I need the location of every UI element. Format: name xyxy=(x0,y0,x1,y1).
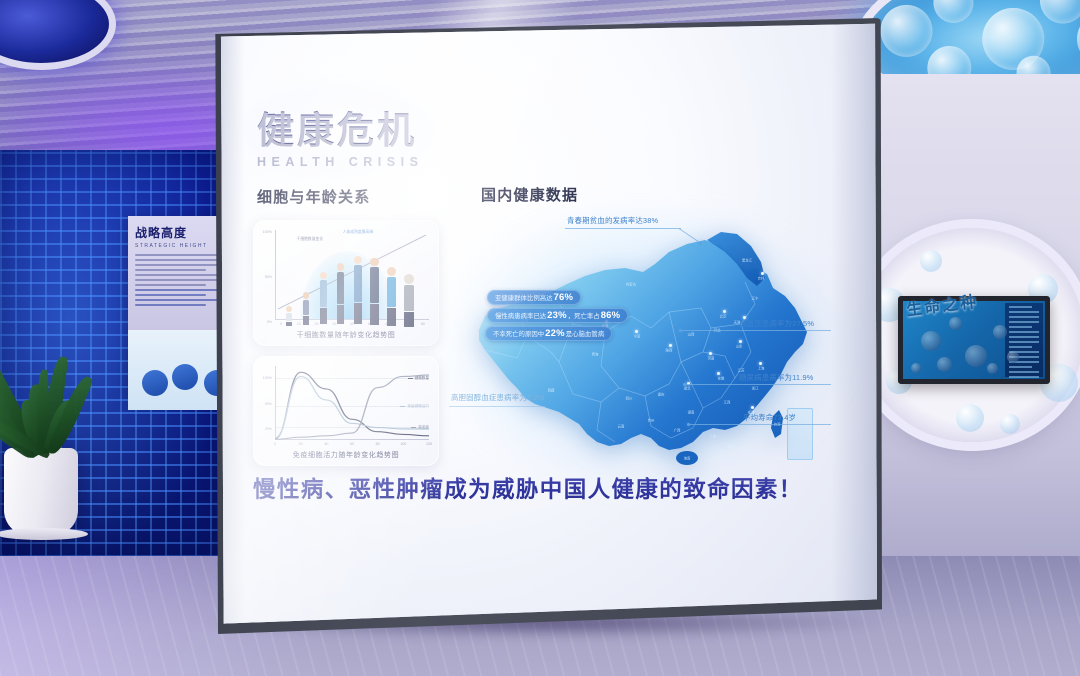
bubble-decor xyxy=(956,404,984,432)
figure-body xyxy=(354,265,362,302)
map-pin xyxy=(751,406,754,409)
cell-graphic xyxy=(1007,351,1019,363)
province-label: 江西 xyxy=(724,400,731,405)
x-tick-label: 0 xyxy=(274,442,276,446)
poster-badge xyxy=(172,364,198,390)
x-tick-label: 0 xyxy=(280,322,282,326)
china-map-block: 黑龙江吉林辽宁内蒙古北京天津河北山西山东河南陕西甘肃宁夏青海新疆西藏四川重庆湖北… xyxy=(455,212,851,482)
chart-card-immunity: 100%50%20% 020406080100120 细胞数量免疫细胞活力衰老度… xyxy=(253,356,439,466)
x-tick-label: 100 xyxy=(400,442,406,446)
callout-lifespan: 平均寿命73.4岁 xyxy=(743,412,796,423)
figure-head xyxy=(337,263,345,271)
legend-label: 免疫细胞活力 xyxy=(407,404,429,409)
leader-dot-anemia xyxy=(699,242,702,245)
y-tick-label: 50% xyxy=(265,402,272,406)
figure-body xyxy=(320,280,327,307)
province-label: 西藏 xyxy=(548,388,555,393)
province-label: 香港 xyxy=(728,444,735,449)
map-pin-dot xyxy=(709,352,712,355)
pill-value2: 86% xyxy=(601,310,621,321)
province-label: 山东 xyxy=(736,344,743,349)
bubble-decor xyxy=(1000,414,1020,434)
figure-legs xyxy=(303,316,310,325)
province-label: 吉林 xyxy=(758,276,765,281)
plant-pot xyxy=(4,448,78,536)
leader-line-lifespan xyxy=(689,424,831,425)
bubble-decor xyxy=(920,250,942,272)
leader-dot-diabetes xyxy=(683,383,686,386)
province-label: 河南 xyxy=(708,356,715,361)
province-label: 贵州 xyxy=(648,418,655,423)
x-tick-label: 80 xyxy=(376,442,380,446)
leader-line-anemia xyxy=(565,228,681,229)
legend-item: 免疫细胞活力 xyxy=(400,404,429,409)
stat-pill-subhealth: 亚健康群体比例高达76% xyxy=(487,290,581,305)
cell-graphic xyxy=(993,325,1007,339)
human-figure xyxy=(404,274,414,319)
figure-head xyxy=(354,256,362,264)
map-pin xyxy=(709,352,712,355)
province-label: 上海 xyxy=(758,366,765,371)
monitor-text-line xyxy=(1009,336,1039,338)
province-label: 澳门 xyxy=(720,450,727,455)
province-label: 山西 xyxy=(688,332,695,337)
human-figure xyxy=(354,256,362,319)
province-label: 湖南 xyxy=(688,410,695,415)
province-label: 广东 xyxy=(710,434,717,439)
x-tick-label: 20 xyxy=(299,442,303,446)
bubble-decor xyxy=(1037,0,1080,26)
bubble-decor xyxy=(878,2,936,60)
annotation-maturity: 人体成熟度最高峰 xyxy=(343,230,373,235)
bubble-decor xyxy=(931,0,976,25)
map-pin xyxy=(723,310,726,313)
figure-body xyxy=(370,267,379,302)
callout-diabetes: 糖尿病患病率为11.9% xyxy=(739,372,814,383)
leader-line-hypertension xyxy=(681,330,831,331)
poster-text-line xyxy=(135,284,206,286)
figure-legs xyxy=(387,308,396,326)
figure-legs xyxy=(404,312,414,327)
figure-head xyxy=(387,267,396,276)
province-label: 安徽 xyxy=(718,376,725,381)
stat-pill-cardiovascular: 不幸死亡的原因中22%是心脑血管病 xyxy=(485,326,612,341)
human-figure xyxy=(286,306,292,319)
province-label: 浙江 xyxy=(752,386,759,391)
y-tick-label: 20% xyxy=(265,427,272,431)
figure-body xyxy=(404,285,414,311)
figure-legs xyxy=(354,303,362,324)
poster-badge xyxy=(142,370,168,396)
legend-item: 细胞数量 xyxy=(408,376,429,381)
chart-caption-immunity: 免疫细胞活力随年龄变化趋势图 xyxy=(253,450,439,460)
leader-dot-lifespan xyxy=(687,423,690,426)
monitor-side-panel xyxy=(1005,303,1043,377)
figure-legs xyxy=(337,305,345,324)
cell-graphic xyxy=(987,363,998,374)
figure-body xyxy=(337,272,345,304)
x-tick-label: 20 xyxy=(315,322,319,326)
cell-graphic xyxy=(911,363,921,373)
y-tick-label: 100% xyxy=(263,376,272,380)
figure-head xyxy=(320,272,327,279)
pill-prefix: 慢性病患病率已达 xyxy=(495,311,546,320)
figure-body xyxy=(286,313,292,320)
stemcell-plot-area: 100%50%0% 01020304050607080 干细胞数量变化 人体成熟… xyxy=(275,230,429,320)
monitor-text-line xyxy=(1009,381,1039,383)
stat-pill-chronic: 慢性病患病率已达23%，死亡率占86% xyxy=(487,308,628,323)
map-pin xyxy=(717,372,720,375)
plant-pot-base xyxy=(0,528,88,540)
exhibition-hall-photo: 生命之种 战略高度 STRATEGIC HEIGHT 健康危机 HEALTH C… xyxy=(0,0,1080,676)
province-label: 云南 xyxy=(618,424,625,429)
province-label: 四川 xyxy=(626,396,633,401)
province-label: 宁夏 xyxy=(634,334,641,339)
page-title-en: HEALTH CRISIS xyxy=(257,155,423,169)
monitor-text-line xyxy=(1009,371,1039,373)
figure-head xyxy=(303,292,310,299)
pill-prefix: 不幸死亡的原因中 xyxy=(493,329,544,338)
poster-bullet-line xyxy=(135,304,206,306)
figure-legs xyxy=(286,322,292,326)
x-tick-label: 60 xyxy=(350,442,354,446)
bottom-headline: 慢性病、恶性肿瘤成为威胁中国人健康的致命因素！ xyxy=(253,472,833,504)
monitor-text-line xyxy=(1009,346,1032,348)
figure-head xyxy=(286,306,292,312)
board-title-block: 健康危机 HEALTH CRISIS xyxy=(257,100,423,169)
map-pin-dot xyxy=(761,272,764,275)
leader-dot-hypertension xyxy=(679,329,682,332)
pill-prefix: 亚健康群体比例高达 xyxy=(495,293,553,302)
poster-text-line xyxy=(135,269,206,271)
monitor-text-line xyxy=(1009,376,1039,378)
figure-head xyxy=(404,274,414,284)
leader-line-diabetes xyxy=(685,384,831,385)
section-heading-cells: 细胞与年龄关系 xyxy=(257,186,370,207)
province-label: 北京 xyxy=(720,314,727,319)
x-tick-label: 80 xyxy=(421,322,425,326)
callout-anemia: 青春期贫血的发病率达38% xyxy=(567,215,658,226)
figure-body xyxy=(303,300,310,316)
x-tick-label: 120 xyxy=(426,442,432,446)
chart-caption-stemcell: 干细胞数量随年龄变化趋势图 xyxy=(253,330,439,340)
pill-value: 22% xyxy=(545,328,565,339)
map-pin-dot xyxy=(717,372,720,375)
exhibit-board: 健康危机 HEALTH CRISIS 细胞与年龄关系 国内健康数据 100%50… xyxy=(219,22,877,626)
province-label: 辽宁 xyxy=(752,296,759,301)
chart-card-stemcell: 100%50%0% 01020304050607080 干细胞数量变化 人体成熟… xyxy=(253,220,439,346)
y-tick-label: 100% xyxy=(263,230,272,234)
map-pin-dot xyxy=(759,362,762,365)
map-pin-dot xyxy=(751,406,754,409)
map-pin xyxy=(739,340,742,343)
monitor-text-line xyxy=(1009,306,1032,308)
province-label: 陕西 xyxy=(666,348,673,353)
monitor-text-line xyxy=(1009,341,1039,343)
y-tick-label: 50% xyxy=(265,275,272,279)
y-axis xyxy=(275,230,276,320)
legend-label: 细胞数量 xyxy=(415,376,429,381)
map-pin-dot xyxy=(669,344,672,347)
y-tick-label: 0% xyxy=(267,320,272,324)
pill-suffix: 是心脑血管病 xyxy=(566,329,604,338)
province-label: 内蒙古 xyxy=(626,282,636,287)
map-pin xyxy=(635,330,638,333)
x-tick-label: 10 xyxy=(297,322,301,326)
immunity-curves-svg xyxy=(275,366,429,440)
map-pin xyxy=(761,272,764,275)
province-label: 海南 xyxy=(684,456,691,461)
province-label: 重庆 xyxy=(658,392,665,397)
monitor-text-line xyxy=(1009,316,1039,318)
callout-cholesterol: 高胆固醇血症患病率为8.2% xyxy=(451,392,545,403)
province-label: 湖北 xyxy=(684,386,691,391)
figure-head xyxy=(370,258,379,267)
monitor-text-line xyxy=(1009,366,1032,368)
poster-bullet-line xyxy=(135,294,206,296)
cell-graphic xyxy=(949,317,962,330)
province-label: 青海 xyxy=(592,352,599,357)
immunity-plot-area: 100%50%20% 020406080100120 细胞数量免疫细胞活力衰老度 xyxy=(275,366,429,440)
legend-item: 衰老度 xyxy=(411,425,429,430)
human-figure xyxy=(303,292,310,319)
map-pin xyxy=(759,362,762,365)
x-tick-label: 40 xyxy=(324,442,328,446)
human-figure xyxy=(337,263,345,319)
province-label: 黑龙江 xyxy=(742,258,752,263)
annotation-stemcell: 干细胞数量变化 xyxy=(297,237,324,242)
monitor-text-line xyxy=(1009,321,1039,323)
section-heading-health: 国内健康数据 xyxy=(481,184,578,205)
human-figure xyxy=(320,272,327,319)
pill-suffix: ，死亡率占 xyxy=(568,311,600,320)
page-title: 健康危机 xyxy=(257,100,423,154)
callout-hypertension: 高血压患病率为27.5% xyxy=(739,318,814,329)
pill-value: 76% xyxy=(554,292,574,303)
map-pin xyxy=(669,344,672,347)
monitor-text-line xyxy=(1009,331,1039,333)
pill-value: 23% xyxy=(547,310,567,321)
cell-graphic xyxy=(921,331,941,351)
legend-label: 衰老度 xyxy=(418,425,429,430)
map-pin-dot xyxy=(635,330,638,333)
map-pin-dot xyxy=(723,310,726,313)
monitor-text-line xyxy=(1009,311,1039,313)
cell-graphic xyxy=(937,357,952,372)
figure-body xyxy=(387,277,396,307)
leader-line-cholesterol xyxy=(449,406,545,407)
figure-legs xyxy=(370,304,379,325)
monitor-text-line xyxy=(1009,326,1032,328)
map-pin-dot xyxy=(739,340,742,343)
province-label: 广西 xyxy=(674,428,681,433)
figure-legs xyxy=(320,308,327,324)
cell-graphic xyxy=(965,345,987,367)
human-figure xyxy=(370,258,379,319)
human-figure xyxy=(387,267,396,319)
